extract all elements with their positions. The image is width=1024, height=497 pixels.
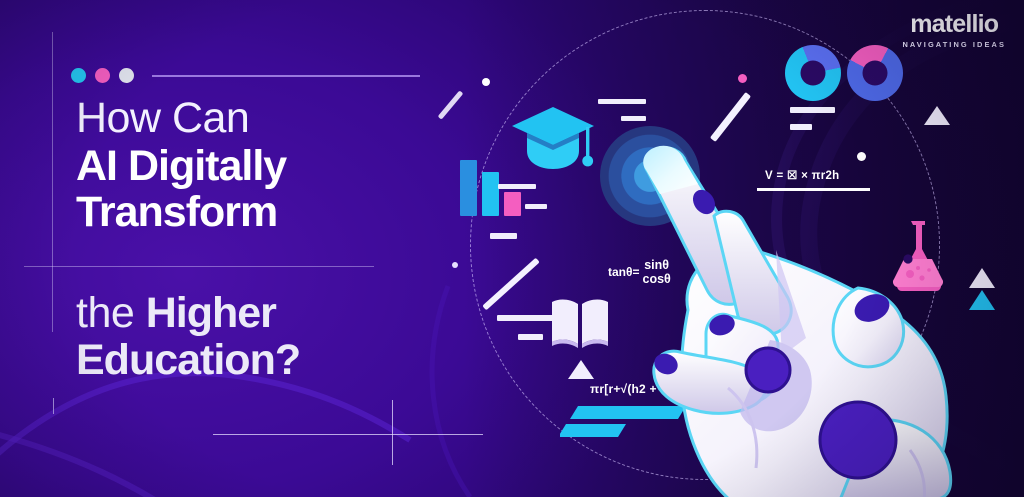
decor-dash [598, 99, 646, 104]
triangle-icon [568, 360, 594, 379]
decor-slash [438, 90, 464, 119]
pink-dot-icon [738, 74, 747, 83]
bar-item [460, 160, 477, 216]
hero-banner: How Can AI Digitally Transform the Highe… [0, 0, 1024, 497]
decor-vertical-rule-bottom [392, 400, 393, 465]
decor-dash [490, 233, 517, 239]
headline-line-1: How Can [76, 95, 456, 141]
page-subtitle: the Higher Education? [76, 290, 476, 385]
donut-hole [801, 61, 826, 86]
graduation-cap-icon [510, 105, 596, 175]
decor-horizontal-rule [24, 266, 374, 267]
headline-line-3: Transform [76, 189, 456, 235]
decor-dash [518, 334, 543, 340]
decor-dash [498, 184, 536, 189]
headline-line-5: Education? [76, 337, 476, 384]
open-book-icon [548, 296, 612, 350]
white-dot-icon [482, 78, 490, 86]
cyan-dot-icon [71, 68, 86, 83]
donut-chart-icon [785, 45, 841, 101]
robot-hand-icon [610, 120, 1010, 497]
decor-dash [497, 315, 553, 321]
headline-line-4-light: the [76, 289, 146, 337]
decor-vertical-tick [53, 398, 54, 414]
decor-vertical-rule [52, 32, 53, 332]
bar-item [482, 172, 499, 216]
grey-dot-icon [119, 68, 134, 83]
headline-line-4-bold: Higher [146, 289, 276, 337]
hero-illustration: V = ☒ × πr2h tanθ= sinθ cosθ πr[r+√(h2 +… [420, 0, 1024, 497]
donut-hole [863, 61, 888, 86]
white-dot-icon [452, 262, 458, 268]
decor-top-line [152, 75, 420, 77]
decor-dash [790, 107, 835, 113]
decor-dash [525, 204, 547, 209]
headline-line-4: the Higher [76, 290, 476, 337]
bar-item [504, 192, 521, 216]
pink-dot-icon [95, 68, 110, 83]
decor-dot-group [71, 68, 134, 83]
headline-line-2: AI Digitally [76, 143, 456, 189]
donut-chart-icon [847, 45, 903, 101]
page-title: How Can AI Digitally Transform [76, 95, 456, 235]
